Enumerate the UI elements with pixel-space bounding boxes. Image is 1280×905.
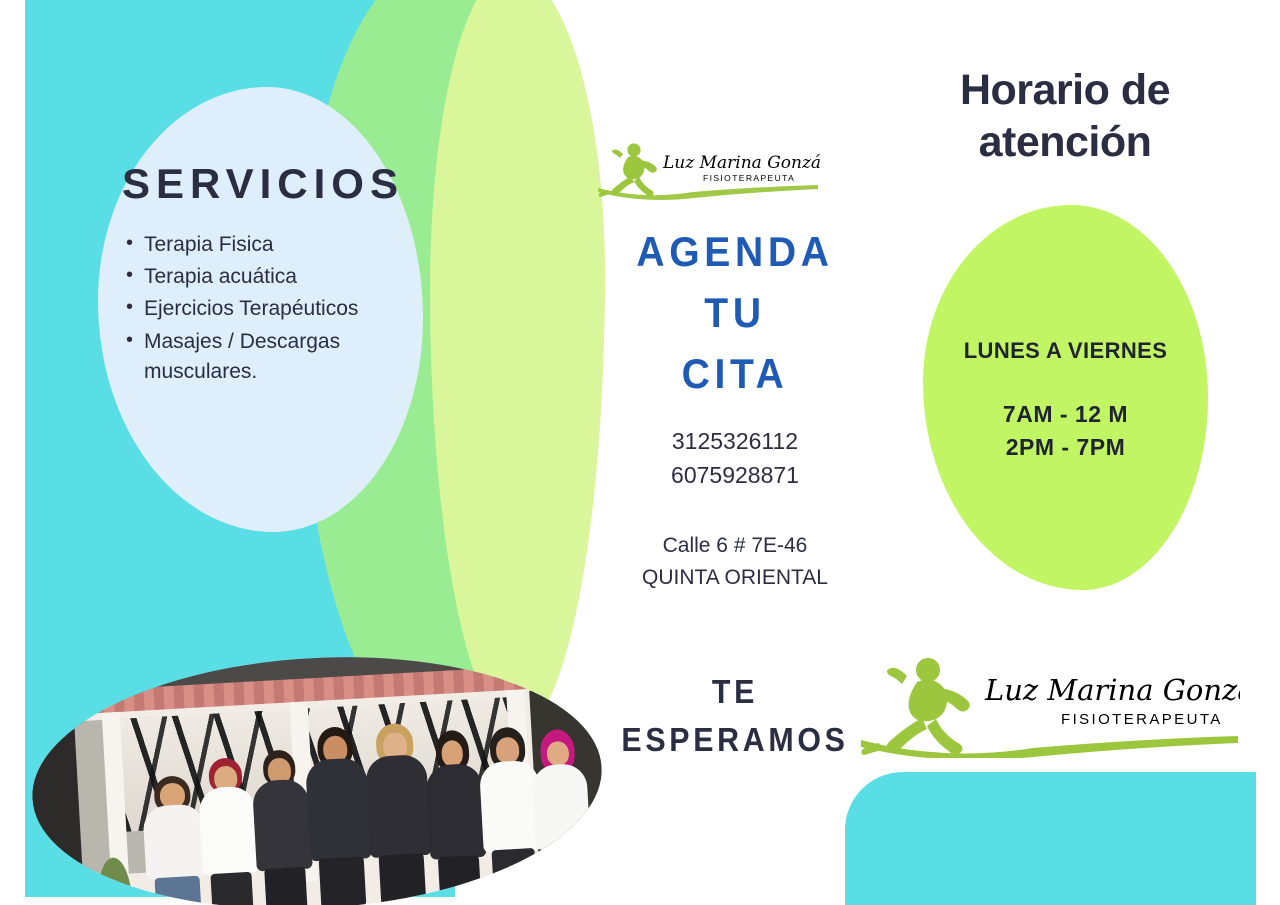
logo-role-text: FISIOTERAPEUTA bbox=[703, 173, 795, 183]
schedule-details: LUNES A VIERNES 7AM - 12 M 2PM - 7PM bbox=[923, 338, 1208, 463]
schedule-heading-line-1: Horario de bbox=[900, 64, 1230, 116]
logo-name-text: Luz Marina González G. bbox=[984, 673, 1240, 707]
agenda-headline-line2: CITA bbox=[600, 344, 870, 405]
list-item: Masajes / Descargas musculares. bbox=[126, 327, 428, 387]
schedule-heading-line-2: atención bbox=[900, 116, 1230, 168]
schedule-hours-afternoon: 2PM - 7PM bbox=[923, 431, 1208, 464]
logo-bottom: Luz Marina González G. FISIOTERAPEUTA bbox=[855, 648, 1240, 758]
team-photo-image bbox=[25, 642, 608, 905]
schedule-hours-morning: 7AM - 12 M bbox=[923, 398, 1208, 431]
closing-line-2: ESPERAMOS bbox=[602, 716, 869, 764]
address-line-1: Calle 6 # 7E-46 bbox=[590, 530, 880, 562]
schedule-heading: Horario de atención bbox=[900, 64, 1230, 169]
agenda-headline: AGENDA TU CITA bbox=[600, 222, 870, 405]
team-photo bbox=[25, 642, 608, 905]
services-list: Terapia Fisica Terapia acuática Ejercici… bbox=[98, 230, 428, 387]
list-item: Terapia acuática bbox=[126, 262, 428, 292]
services-heading: SERVICIOS bbox=[98, 160, 428, 208]
logo-running-figure-icon: Luz Marina González G. FISIOTERAPEUTA bbox=[595, 138, 820, 200]
closing-message: TE ESPERAMOS bbox=[602, 668, 869, 764]
schedule-days: LUNES A VIERNES bbox=[923, 338, 1208, 364]
phone-number-2[interactable]: 6075928871 bbox=[590, 458, 880, 492]
schedule-hours: 7AM - 12 M 2PM - 7PM bbox=[923, 398, 1208, 463]
phone-numbers: 3125326112 6075928871 bbox=[590, 424, 880, 492]
phone-number-1[interactable]: 3125326112 bbox=[590, 424, 880, 458]
logo-running-figure-icon: Luz Marina González G. FISIOTERAPEUTA bbox=[855, 648, 1240, 758]
closing-line-1: TE bbox=[602, 668, 869, 716]
logo-top: Luz Marina González G. FISIOTERAPEUTA bbox=[595, 138, 820, 200]
agenda-headline-line1: AGENDA TU bbox=[600, 222, 870, 344]
photo-person bbox=[528, 728, 594, 896]
photo-plant bbox=[86, 833, 141, 901]
list-item: Terapia Fisica bbox=[126, 230, 428, 260]
cyan-bottom-shape bbox=[845, 772, 1255, 905]
list-item: Ejercicios Terapéuticos bbox=[126, 294, 428, 324]
flyer-canvas: SERVICIOS Terapia Fisica Terapia acuátic… bbox=[0, 0, 1280, 905]
address-block: Calle 6 # 7E-46 QUINTA ORIENTAL bbox=[590, 530, 880, 594]
address-line-2: QUINTA ORIENTAL bbox=[590, 562, 880, 594]
logo-name-text: Luz Marina González G. bbox=[662, 153, 820, 173]
services-section: SERVICIOS Terapia Fisica Terapia acuátic… bbox=[98, 160, 428, 389]
logo-role-text: FISIOTERAPEUTA bbox=[1061, 711, 1223, 728]
